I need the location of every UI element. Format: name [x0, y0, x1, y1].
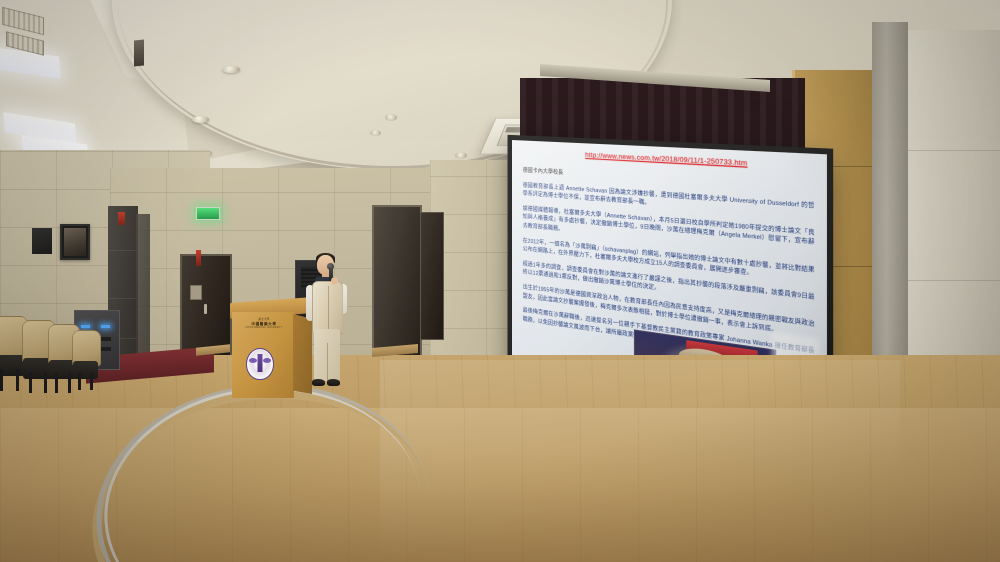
status-led — [101, 325, 110, 328]
podium-sign-line3: CHINA MEDICAL UNIVERSITY — [242, 326, 286, 330]
crest-staff — [258, 354, 263, 373]
seat-leg — [0, 369, 3, 391]
presenter-hand — [331, 277, 338, 285]
podium-sign: 國立大學 中國醫藥大學 CHINA MEDICAL UNIVERSITY — [242, 318, 286, 330]
presenter-shoe — [312, 379, 325, 386]
recessed-spotlight — [455, 152, 467, 159]
exit-sign — [196, 207, 220, 220]
auditorium-photo: http://www.news.com.tw/2018/09/11/1-2507… — [0, 0, 1000, 562]
status-led — [81, 325, 90, 328]
crest-wing — [249, 358, 257, 363]
seat-leg — [16, 369, 19, 391]
door-handle — [204, 304, 207, 314]
podium[interactable]: 國立大學 中國醫藥大學 CHINA MEDICAL UNIVERSITY — [230, 300, 312, 398]
seat-leg — [55, 373, 58, 393]
downlight — [192, 116, 209, 123]
seat-leg — [68, 373, 71, 393]
slide-url-link[interactable]: http://www.news.com.tw/2018/09/11/1-2507… — [585, 152, 747, 168]
university-crest-icon — [246, 348, 274, 380]
side-door[interactable] — [420, 212, 444, 340]
recessed-spotlight — [370, 130, 381, 136]
podium-sign-line1: 國立大學 — [242, 318, 286, 322]
seat-leg — [29, 372, 32, 393]
trouser-seam — [327, 343, 328, 381]
presenter-vest — [312, 281, 343, 335]
doorway[interactable] — [372, 205, 422, 357]
framed-poster — [60, 224, 90, 260]
tiled-column — [136, 214, 150, 364]
crest-wing — [263, 358, 271, 363]
auditorium-seat[interactable] — [72, 330, 99, 388]
vest-zipper — [328, 286, 329, 330]
seat-cushion — [73, 361, 99, 378]
fire-extinguisher — [118, 212, 125, 225]
presenter-shoe — [327, 379, 340, 386]
seat-back — [72, 330, 101, 366]
fire-extinguisher — [196, 250, 201, 266]
seat-leg — [44, 372, 47, 393]
poster-image — [64, 228, 86, 256]
seat-leg — [90, 373, 93, 390]
wall-control-panel[interactable] — [190, 285, 202, 300]
seat-leg — [78, 373, 81, 390]
wall-speaker — [32, 228, 52, 254]
recessed-spotlight — [385, 114, 397, 121]
ceiling-vent — [134, 39, 144, 66]
microphone-head-icon — [327, 263, 334, 270]
downlight — [222, 66, 240, 73]
presenter — [305, 255, 351, 395]
podium-front-panel: 國立大學 中國醫藥大學 CHINA MEDICAL UNIVERSITY — [232, 312, 294, 398]
presenter-trousers — [314, 329, 340, 381]
